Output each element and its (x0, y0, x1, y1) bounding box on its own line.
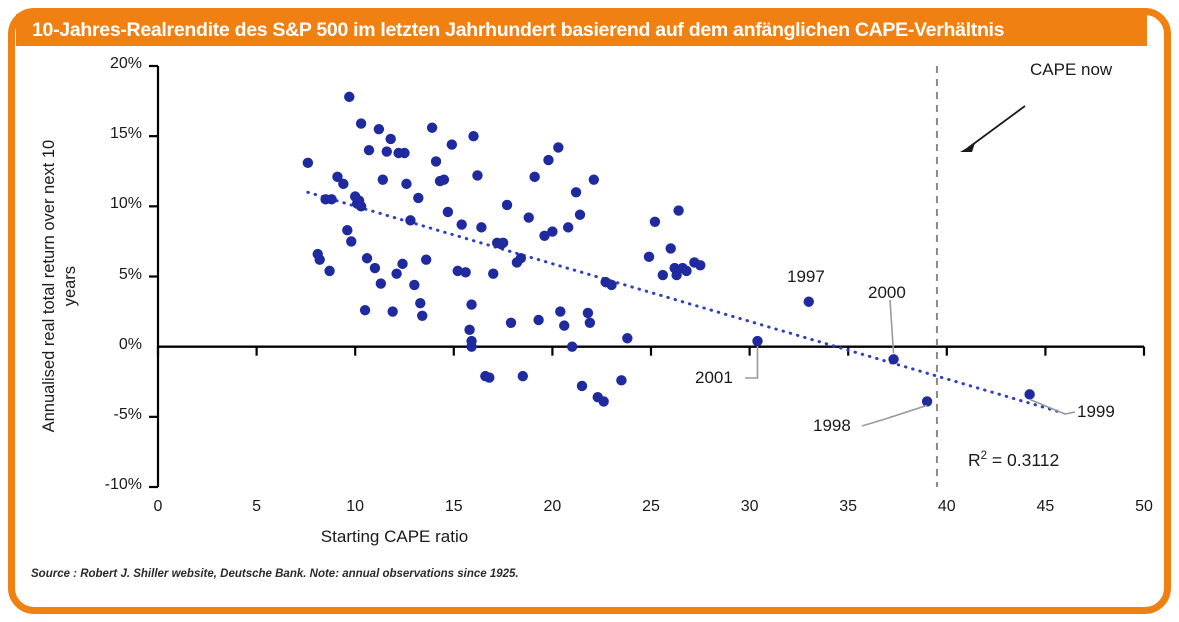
y-axis-title-line1: Annualised real total return over next 1… (39, 76, 60, 496)
annotation-1997: 1997 (787, 267, 825, 287)
x-tick-label: 20 (527, 498, 577, 516)
x-tick-label: 45 (1020, 498, 1070, 516)
x-axis-title-text: Starting CAPE ratio (321, 527, 468, 546)
x-tick-label: 25 (626, 498, 676, 516)
x-tick-label: 15 (429, 498, 479, 516)
x-tick-label: 5 (232, 498, 282, 516)
y-tick-label: 20% (60, 55, 142, 73)
cape-now-label: CAPE now (1030, 60, 1112, 80)
y-axis-title-line2: years (60, 76, 81, 496)
annotation-2001: 2001 (695, 368, 733, 388)
r-squared-label: R2 = 0.3112 (968, 450, 1059, 471)
orange-frame (8, 8, 1171, 614)
r-squared-text: R (968, 450, 981, 470)
x-tick-label: 0 (133, 498, 183, 516)
x-tick-label: 30 (725, 498, 775, 516)
chart-title-bar: 10-Jahres-Realrendite des S&P 500 im let… (16, 14, 1147, 46)
y-axis-title: Annualised real total return over next 1… (39, 76, 81, 496)
annotation-2000: 2000 (868, 283, 906, 303)
x-tick-label: 35 (823, 498, 873, 516)
source-note: Source : Robert J. Shiller website, Deut… (31, 568, 519, 580)
annotation-1999: 1999 (1077, 402, 1115, 422)
x-tick-label: 10 (330, 498, 380, 516)
annotation-1998: 1998 (813, 416, 851, 436)
chart-page: 10-Jahres-Realrendite des S&P 500 im let… (0, 0, 1179, 622)
x-tick-label: 40 (922, 498, 972, 516)
r-squared-value: = 0.3112 (987, 450, 1059, 470)
page-title: 10-Jahres-Realrendite des S&P 500 im let… (32, 19, 1004, 42)
x-tick-label: 50 (1119, 498, 1169, 516)
x-axis-title: Starting CAPE ratio (0, 527, 1179, 547)
